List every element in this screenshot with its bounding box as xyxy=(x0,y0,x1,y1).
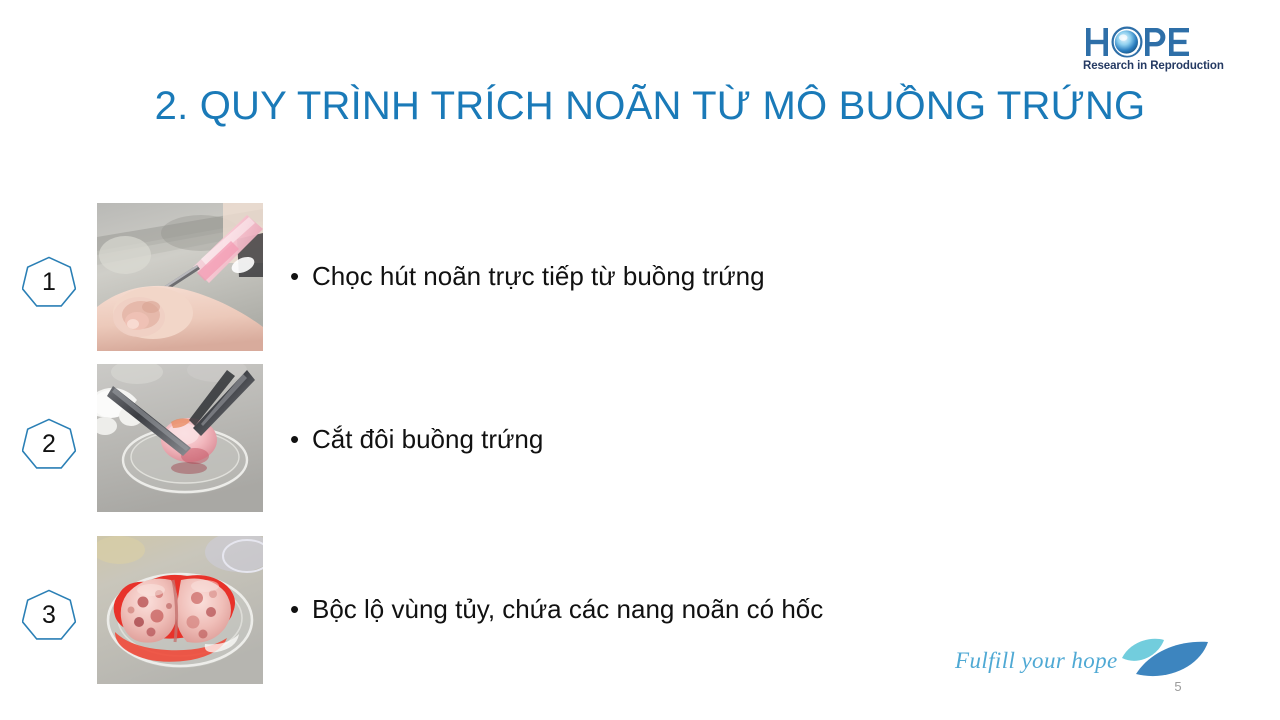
bullet-icon: • xyxy=(290,426,312,452)
leaf-icon xyxy=(1116,628,1222,682)
hope-wordmark xyxy=(1083,24,1207,60)
step-row: 1 xyxy=(0,203,1280,353)
step-photo-1 xyxy=(97,203,263,351)
step-photo-3 xyxy=(97,536,263,684)
step-badge-number: 3 xyxy=(22,588,76,642)
step-text-3: • Bộc lộ vùng tủy, chứa các nang noãn có… xyxy=(290,594,823,625)
hope-logo: Research in Reproduction xyxy=(1083,24,1207,80)
step-badge-number: 1 xyxy=(22,255,76,309)
page-title: 2. QUY TRÌNH TRÍCH NOÃN TỪ MÔ BUỒNG TRỨN… xyxy=(60,84,1240,129)
step-badge-1: 1 xyxy=(22,255,76,309)
bullet-icon: • xyxy=(290,263,312,289)
page-number: 5 xyxy=(1168,679,1188,694)
step-row: 2 xyxy=(0,364,1280,514)
step-photo-2 xyxy=(97,364,263,512)
step-label: Bộc lộ vùng tủy, chứa các nang noãn có h… xyxy=(312,594,823,625)
step-label: Chọc hút noãn trực tiếp từ buồng trứng xyxy=(312,261,765,292)
footer-tagline: Fulfill your hope xyxy=(955,648,1118,674)
hope-logo-tagline: Research in Reproduction xyxy=(1083,60,1207,72)
step-badge-3: 3 xyxy=(22,588,76,642)
step-badge-number: 2 xyxy=(22,417,76,471)
step-text-1: • Chọc hút noãn trực tiếp từ buồng trứng xyxy=(290,261,765,292)
step-text-2: • Cắt đôi buồng trứng xyxy=(290,424,543,455)
step-label: Cắt đôi buồng trứng xyxy=(312,424,543,455)
step-badge-2: 2 xyxy=(22,417,76,471)
bullet-icon: • xyxy=(290,596,312,622)
